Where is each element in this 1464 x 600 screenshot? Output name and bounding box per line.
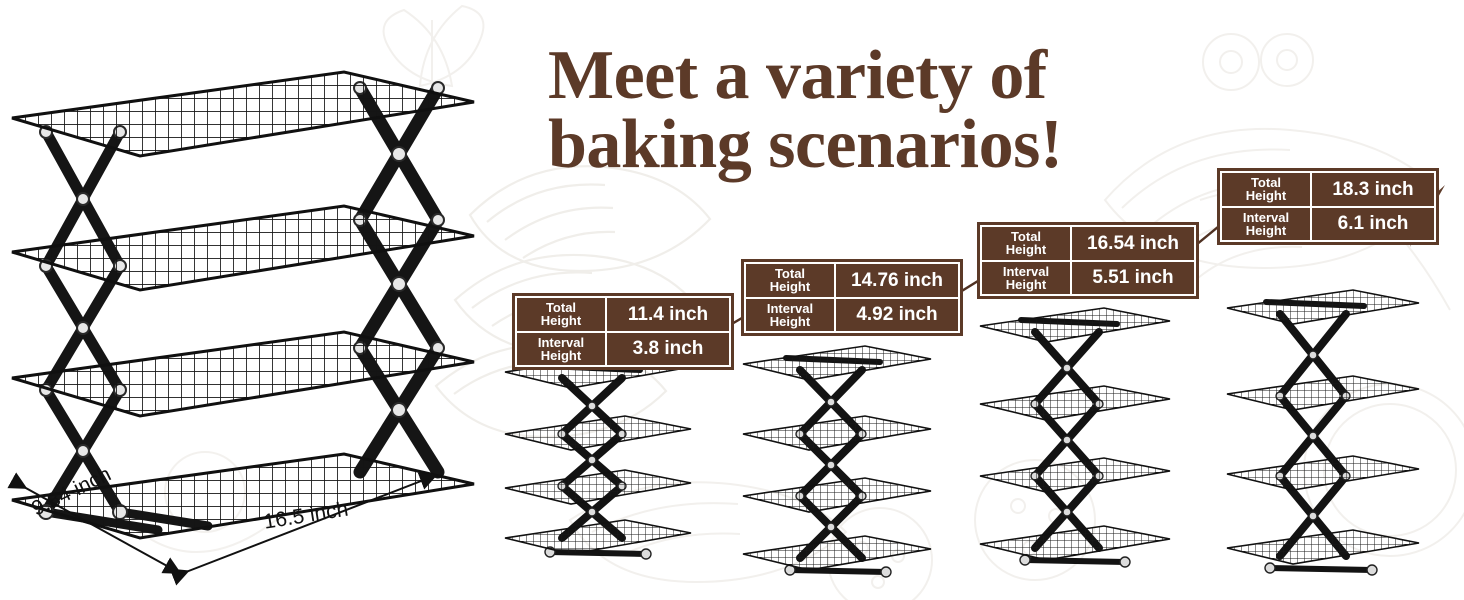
infographic-canvas: Meet a variety of baking scenarios! bbox=[0, 0, 1464, 600]
spec-label-total-height: Total Height bbox=[981, 226, 1071, 261]
table-row: Total Height 11.4 inch bbox=[516, 297, 730, 332]
table-row: Total Height 16.54 inch bbox=[981, 226, 1195, 261]
spec-value-interval-height: 4.92 inch bbox=[835, 298, 959, 333]
page-headline: Meet a variety of baking scenarios! bbox=[548, 42, 1148, 179]
spec-value-total-height: 14.76 inch bbox=[835, 263, 959, 298]
hero-product-image bbox=[8, 60, 478, 540]
spec-value-total-height: 16.54 inch bbox=[1071, 226, 1195, 261]
table-row: Total Height 18.3 inch bbox=[1221, 172, 1435, 207]
spec-table-config-1: Total Height 11.4 inch Interval Height 3… bbox=[513, 294, 733, 369]
spec-value-interval-height: 5.51 inch bbox=[1071, 261, 1195, 296]
table-row: Interval Height 5.51 inch bbox=[981, 261, 1195, 296]
spec-value-total-height: 11.4 inch bbox=[606, 297, 730, 332]
headline-line-1: Meet a variety of bbox=[548, 37, 1047, 114]
table-row: Interval Height 3.8 inch bbox=[516, 332, 730, 367]
spec-table-config-2: Total Height 14.76 inch Interval Height … bbox=[742, 260, 962, 335]
spec-value-total-height: 18.3 inch bbox=[1311, 172, 1435, 207]
spec-table-config-3: Total Height 16.54 inch Interval Height … bbox=[978, 223, 1198, 298]
spec-value-interval-height: 3.8 inch bbox=[606, 332, 730, 367]
table-row: Total Height 14.76 inch bbox=[745, 263, 959, 298]
spec-label-total-height: Total Height bbox=[1221, 172, 1311, 207]
spec-label-interval-height: Interval Height bbox=[1221, 207, 1311, 242]
table-row: Interval Height 6.1 inch bbox=[1221, 207, 1435, 242]
spec-value-interval-height: 6.1 inch bbox=[1311, 207, 1435, 242]
spec-label-total-height: Total Height bbox=[516, 297, 606, 332]
variant-rack-config-4 bbox=[1222, 272, 1427, 592]
spec-label-interval-height: Interval Height bbox=[745, 298, 835, 333]
spec-table-config-4: Total Height 18.3 inch Interval Height 6… bbox=[1218, 169, 1438, 244]
headline-line-2: baking scenarios! bbox=[548, 111, 1148, 180]
variant-rack-config-2 bbox=[738, 330, 938, 590]
table-row: Interval Height 4.92 inch bbox=[745, 298, 959, 333]
variant-rack-config-3 bbox=[975, 288, 1175, 588]
spec-label-total-height: Total Height bbox=[745, 263, 835, 298]
spec-label-interval-height: Interval Height bbox=[981, 261, 1071, 296]
spec-label-interval-height: Interval Height bbox=[516, 332, 606, 367]
